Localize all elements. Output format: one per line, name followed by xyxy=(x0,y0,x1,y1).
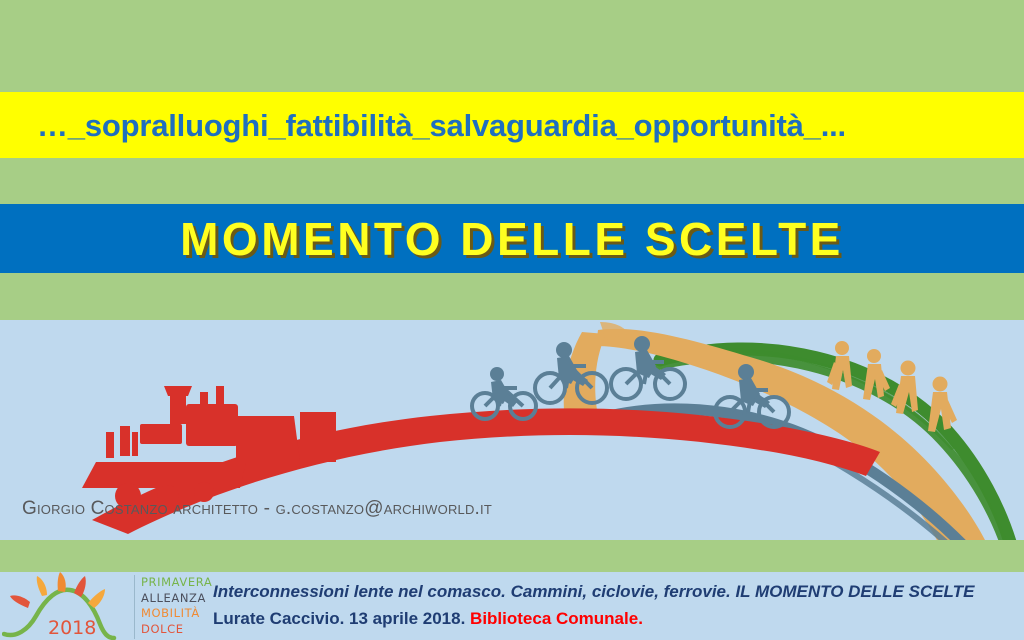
author-credit: Giorgio Costanzo architetto - g.costanzo… xyxy=(22,498,492,520)
footer-place-date: Lurate Caccivio. 13 aprile 2018. xyxy=(213,609,465,628)
steam-train-icon xyxy=(82,386,336,509)
subtitle-band: …_sopralluoghi_fattibilità_salvaguardia_… xyxy=(0,92,1024,158)
slide-title: MOMENTO DELLE SCELTE xyxy=(180,216,844,262)
footer-bar: 2018 PRIMAVERA ALLEANZA MOBILITÀ DOLCE I… xyxy=(0,572,1024,640)
footer-text-block: Interconnessioni lente nel comasco. Camm… xyxy=(213,578,1018,632)
green-separator xyxy=(0,540,1024,572)
primavera-logo-icon: 2018 xyxy=(2,572,130,640)
logo-wordmark: PRIMAVERA ALLEANZA MOBILITÀ DOLCE xyxy=(134,575,204,639)
subtitle-text: …_sopralluoghi_fattibilità_salvaguardia_… xyxy=(0,110,846,141)
logo-word-alleanza: ALLEANZA xyxy=(141,591,204,607)
logo-word-mobilita: MOBILITÀ xyxy=(141,606,204,622)
event-logo: 2018 PRIMAVERA ALLEANZA MOBILITÀ DOLCE xyxy=(0,572,200,640)
title-band: MOMENTO DELLE SCELTE xyxy=(0,204,1024,273)
presentation-slide: …_sopralluoghi_fattibilità_salvaguardia_… xyxy=(0,0,1024,640)
footer-event-title: Interconnessioni lente nel comasco. Camm… xyxy=(213,578,1018,605)
logo-year: 2018 xyxy=(48,617,96,639)
logo-word-dolce: DOLCE xyxy=(141,622,204,638)
footer-event-details: Lurate Caccivio. 13 aprile 2018. Bibliot… xyxy=(213,605,1018,632)
footer-venue: Biblioteca Comunale. xyxy=(470,609,643,628)
logo-word-primavera: PRIMAVERA xyxy=(141,575,204,591)
